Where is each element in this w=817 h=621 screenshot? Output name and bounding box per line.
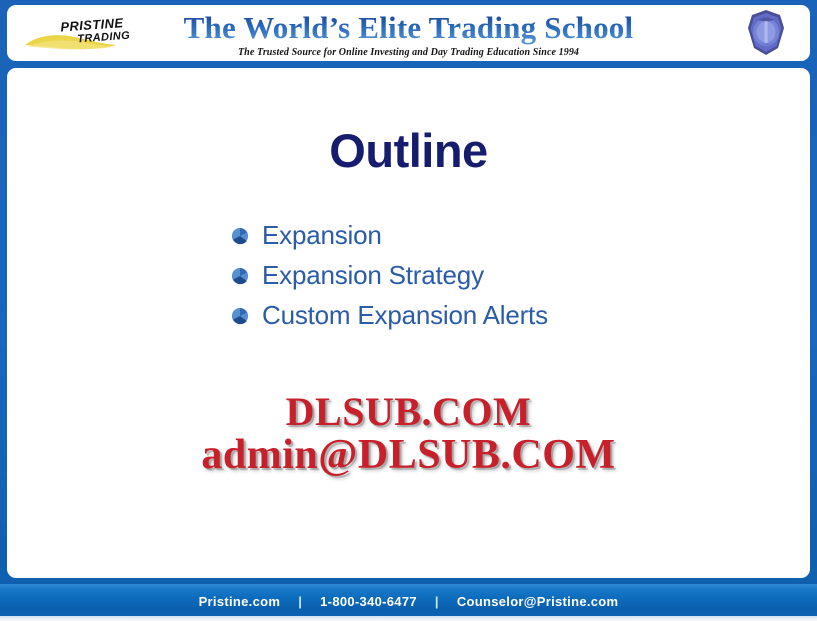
outline-bullet-list: Expansion Expansion Strategy Custom Expa… [229, 215, 729, 335]
footer-email-link[interactable]: Counselor@Pristine.com [457, 594, 619, 609]
list-item[interactable]: Expansion Strategy [229, 255, 729, 295]
footer-content: Pristine.com | 1-800-340-6477 | Counselo… [199, 594, 619, 609]
site-title: The World’s Elite Trading School [7, 11, 810, 45]
footer-separator: | [280, 594, 320, 609]
list-item[interactable]: Custom Expansion Alerts [229, 295, 729, 335]
crescent-bullet-icon [229, 305, 251, 327]
pristine-seal-icon [740, 8, 792, 58]
footer-separator: | [417, 594, 457, 609]
list-item-label: Expansion [262, 220, 382, 250]
watermark-site: DLSUB.COM [7, 390, 810, 433]
slide-content-panel: Outline Expansion Expansion Strategy [7, 68, 810, 578]
crescent-bullet-icon [229, 265, 251, 287]
watermark-overlay: DLSUB.COM admin@DLSUB.COM [7, 390, 810, 479]
slide-heading: Outline [7, 123, 810, 179]
site-tagline: The Trusted Source for Online Investing … [7, 47, 810, 59]
list-item[interactable]: Expansion [229, 215, 729, 255]
footer-phone[interactable]: 1-800-340-6477 [320, 594, 417, 609]
crescent-bullet-icon [229, 225, 251, 247]
list-item-label: Custom Expansion Alerts [262, 300, 548, 330]
watermark-email: admin@DLSUB.COM [7, 433, 810, 478]
footer-website-link[interactable]: Pristine.com [199, 594, 281, 609]
header-panel: PRISTINE TRADING The World’s Elite Tradi… [7, 5, 810, 61]
list-item-label: Expansion Strategy [262, 260, 484, 290]
footer-bar: Pristine.com | 1-800-340-6477 | Counselo… [0, 584, 817, 616]
bottom-edge-line [0, 616, 817, 621]
presentation-slide: PRISTINE TRADING The World’s Elite Tradi… [0, 0, 817, 621]
